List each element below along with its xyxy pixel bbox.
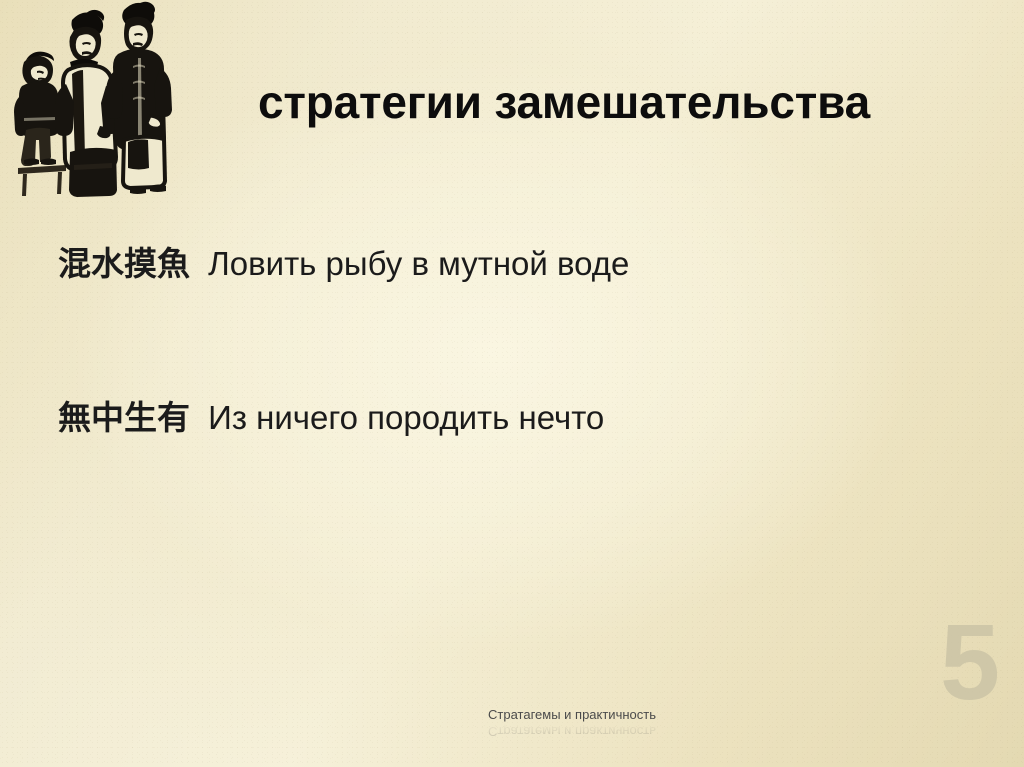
- stratagem-chinese: 混水摸魚: [58, 244, 208, 283]
- stratagem-line: 混水摸魚 Ловить рыбу в мутной воде: [58, 244, 958, 284]
- stratagem-translation: Из ничего породить нечто: [208, 399, 604, 436]
- stratagem-chinese: 無中生有: [58, 398, 208, 437]
- stratagem-translation: Ловить рыбу в мутной воде: [208, 245, 629, 282]
- chinese-ink-figures-illustration: [0, 0, 176, 200]
- presentation-slide: стратегии замешательства 混水摸魚 Ловить рыб…: [0, 0, 1024, 767]
- stratagem-list: 混水摸魚 Ловить рыбу в мутной воде 無中生有 Из н…: [58, 244, 958, 438]
- footer-label: Стратагемы и практичность: [488, 706, 656, 723]
- stratagem-line: 無中生有 Из ничего породить нечто: [58, 398, 958, 438]
- slide-footer: Стратагемы и практичность Стратагемы и п…: [0, 706, 1024, 740]
- slide-title: стратегии замешательства: [258, 74, 1004, 130]
- page-number: 5: [928, 608, 1012, 716]
- footer-label-reflection: Стратагемы и практичность: [120, 723, 1024, 740]
